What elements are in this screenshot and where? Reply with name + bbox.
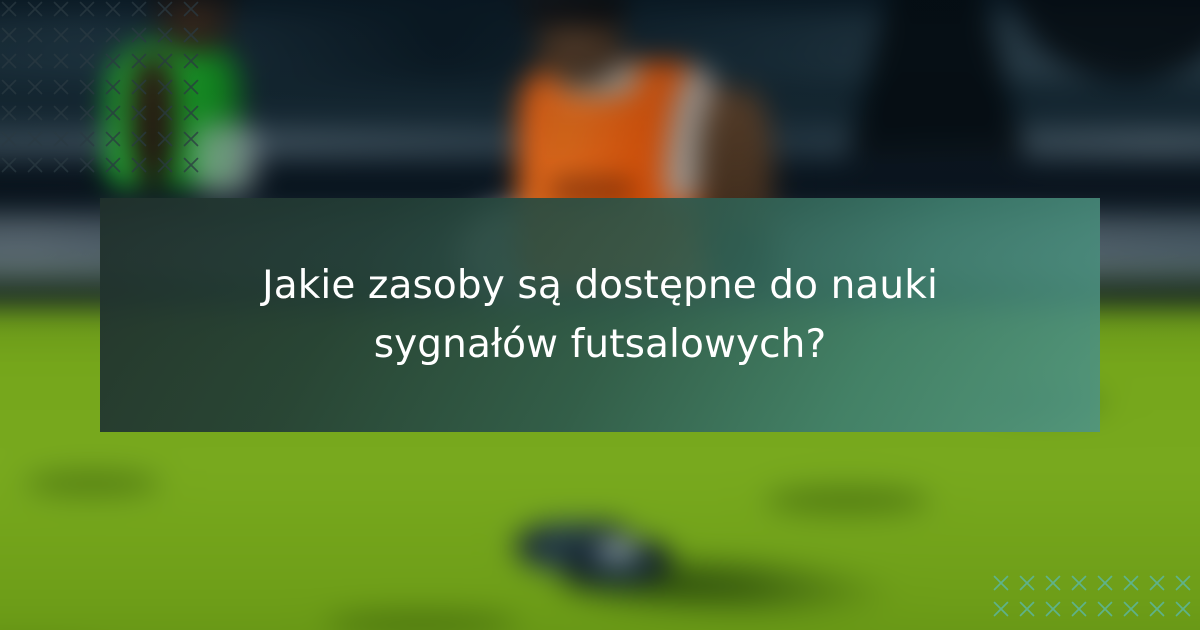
grass-texture [765,487,930,514]
player-green-bib-shorts [194,124,257,194]
grass-texture [325,611,517,630]
grass-texture [23,471,160,494]
question-overlay-box: Jakie zasoby są dostępne do nauki sygnał… [100,198,1100,432]
player-orange-bib-cap [520,0,624,26]
question-title: Jakie zasoby są dostępne do nauki sygnał… [170,256,1030,375]
question-card: Jakie zasoby są dostępne do nauki sygnał… [0,0,1200,630]
player-green-bib-arm [128,54,177,187]
player-shoe-highlight [597,541,638,557]
